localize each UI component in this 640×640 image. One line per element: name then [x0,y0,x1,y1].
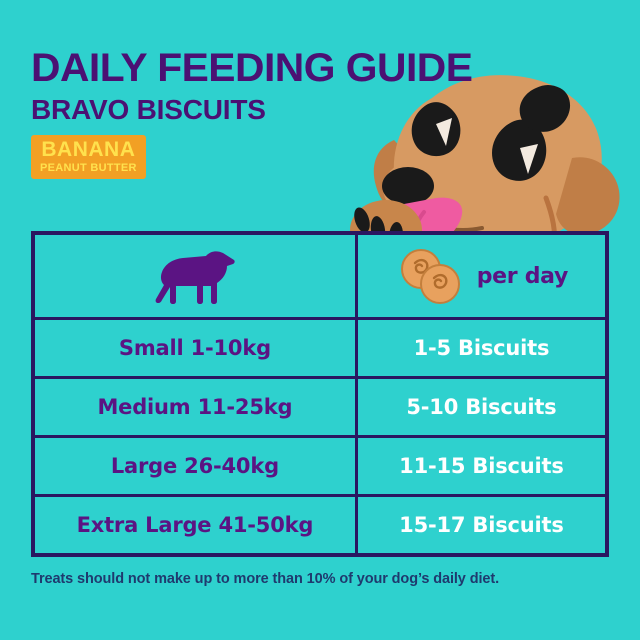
dog-head-marking [520,85,570,132]
table-header-row: per day [33,233,607,319]
flavour-badge: BANANA PEANUT BUTTER [31,135,146,179]
dog-right-eye-shine [520,144,538,174]
dog-silhouette-wrap [35,235,355,317]
feeding-guide-table: per day Small 1-10kg 1-5 Biscuits Medium… [31,231,609,557]
feeding-guide-poster: DAILY FEEDING GUIDE BRAVO BISCUITS BANAN… [0,0,640,640]
table-row: Extra Large 41-50kg 15-17 Biscuits [33,496,607,556]
cell-dog-size: Extra Large 41-50kg [33,496,356,556]
page-title: DAILY FEEDING GUIDE [31,48,472,88]
cell-biscuit-amount: 1-5 Biscuits [356,319,607,378]
header-block: DAILY FEEDING GUIDE BRAVO BISCUITS BANAN… [31,48,464,179]
disclaimer-text: Treats should not make up to more than 1… [31,571,499,587]
dog-mouth-line [406,208,482,230]
header-cell-dog-size [33,233,356,319]
cell-dog-size: Medium 11-25kg [33,378,356,437]
dog-silhouette-icon [153,246,237,306]
table-row: Large 26-40kg 11-15 Biscuits [33,437,607,496]
cell-biscuit-amount: 11-15 Biscuits [356,437,607,496]
cell-dog-size: Small 1-10kg [33,319,356,378]
header-cell-per-day: per day [356,233,607,319]
per-day-label: per day [477,264,568,289]
table-row: Medium 11-25kg 5-10 Biscuits [33,378,607,437]
biscuit-perday-wrap: per day [358,235,605,317]
two-biscuits-icon [395,247,467,305]
page-subtitle: BRAVO BISCUITS [31,96,464,124]
flavour-badge-secondary: PEANUT BUTTER [40,163,137,174]
flavour-badge-primary: BANANA [40,139,137,160]
table-row: Small 1-10kg 1-5 Biscuits [33,319,607,378]
dog-right-eye-patch [492,120,546,181]
cell-dog-size: Large 26-40kg [33,437,356,496]
dog-right-ear [556,157,620,235]
cell-biscuit-amount: 15-17 Biscuits [356,496,607,556]
cell-biscuit-amount: 5-10 Biscuits [356,378,607,437]
